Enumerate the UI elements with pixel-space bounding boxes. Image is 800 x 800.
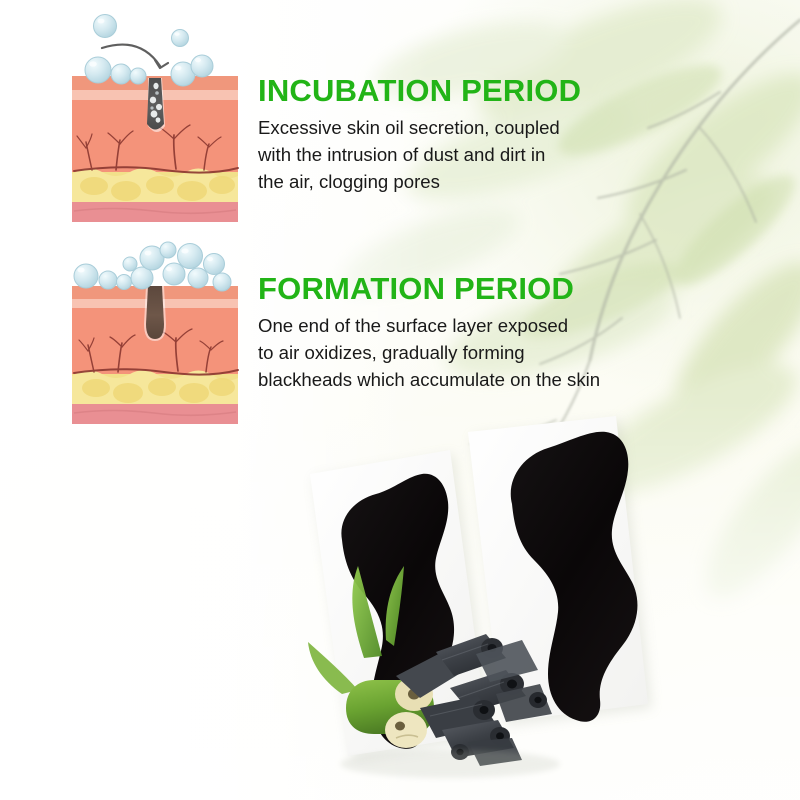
body-formation-period: One end of the surface layer exposed to … [258,313,700,393]
section-incubation-text: INCUBATION PERIOD Excessive skin oil sec… [258,74,658,196]
diagram-incubation-period [64,8,246,228]
body-line: blackheads which accumulate on the skin [258,367,700,394]
heading-formation-period: FORMATION PERIOD [258,272,700,305]
section-formation-text: FORMATION PERIOD One end of the surface … [258,272,700,394]
body-incubation-period: Excessive skin oil secretion, coupled wi… [258,115,658,195]
clogged-pore [147,78,165,132]
blackhead-plug [144,286,166,341]
product-photo-nose-strips [300,408,800,800]
body-line: with the intrusion of dust and dirt in [258,142,658,169]
arrow-icon [102,45,168,68]
heading-incubation-period: INCUBATION PERIOD [258,74,658,107]
body-line: the air, clogging pores [258,169,658,196]
infographic-canvas: INCUBATION PERIOD Excessive skin oil sec… [0,0,800,800]
body-line: Excessive skin oil secretion, coupled [258,115,658,142]
bubble-cluster-1 [85,15,213,87]
bubble-cluster-2 [74,242,231,291]
diagram-formation-period [64,238,246,430]
body-line: One end of the surface layer exposed [258,313,700,340]
body-line: to air oxidizes, gradually forming [258,340,700,367]
